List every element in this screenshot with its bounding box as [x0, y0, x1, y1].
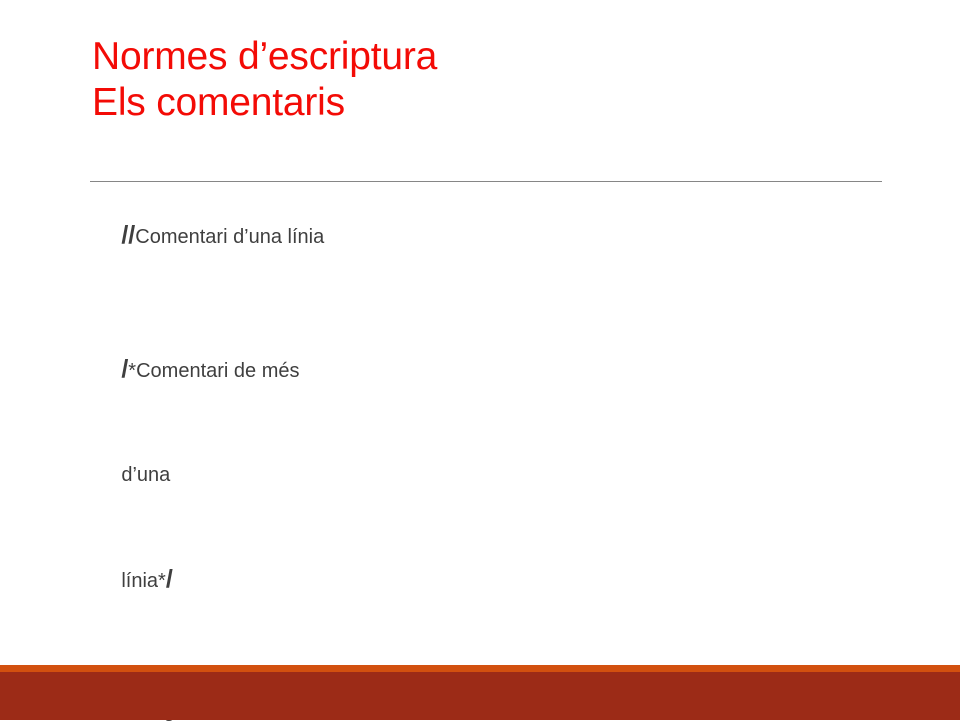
multi-line-comment-line-3-text: línia — [121, 570, 158, 592]
body-spacer-3 — [88, 520, 888, 534]
body-spacer-1 — [88, 282, 888, 324]
slide-title-line-1: Normes d’escriptura — [92, 34, 892, 80]
multi-line-comment-close-star: * — [158, 570, 166, 592]
multi-line-comment-line-2-text: d’una — [121, 464, 170, 486]
footer-accent-bar — [0, 665, 960, 672]
multi-line-comment-close: línia*/ — [88, 534, 888, 626]
single-line-comment-mark: // — [121, 221, 135, 249]
slide-body: //Comentari d’una línia /*Comentari de m… — [88, 190, 888, 724]
slide-title-line-2: Els comentaris — [92, 80, 892, 126]
footer-base-bar — [0, 672, 960, 720]
multi-line-comment-middle: d’una — [88, 430, 888, 520]
multi-line-comment-line-1-text: Comentari de més — [136, 360, 299, 382]
title-divider-rule — [90, 181, 882, 182]
presentation-slide: Normes d’escriptura Els comentaris //Com… — [0, 0, 960, 720]
multi-line-comment-close-slash: / — [166, 565, 173, 593]
single-line-comment-text: Comentari d’una línia — [135, 226, 324, 248]
slide-title: Normes d’escriptura Els comentaris — [92, 34, 892, 126]
multi-line-comment-open: /*Comentari de més — [88, 324, 888, 416]
multi-line-comment-open-star: * — [128, 360, 136, 382]
body-spacer-2 — [88, 416, 888, 430]
single-line-comment-example: //Comentari d’una línia — [88, 190, 888, 282]
